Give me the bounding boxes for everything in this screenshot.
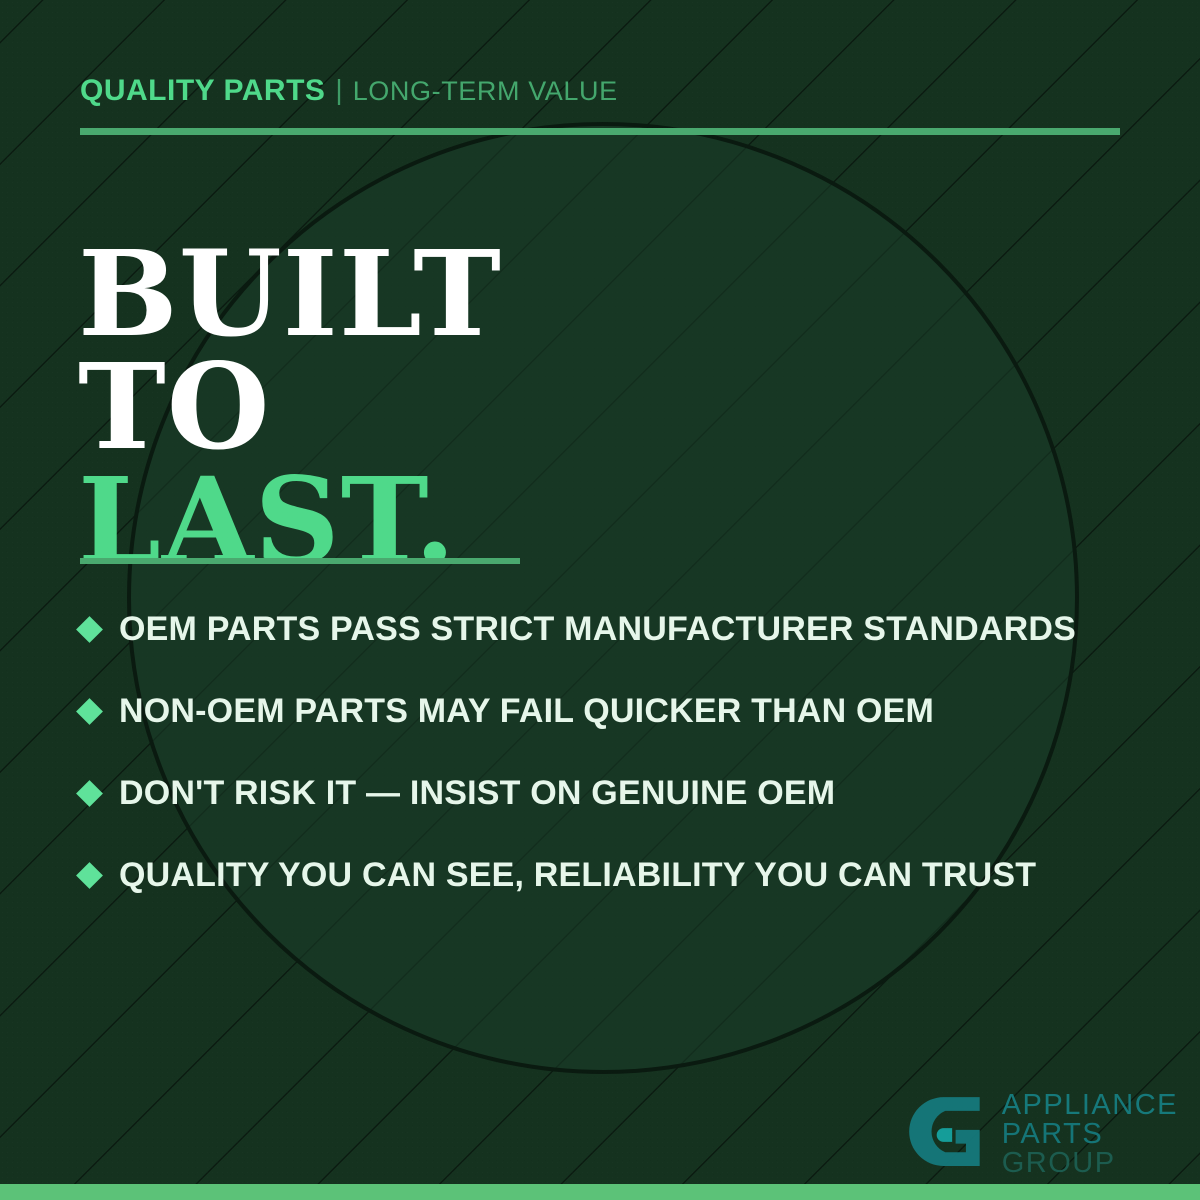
headline-line-2: TO bbox=[78, 350, 502, 463]
brand-logo-line-2: PARTS bbox=[1002, 1120, 1178, 1149]
header-divider-rule bbox=[80, 128, 1120, 135]
bottom-accent-bar bbox=[0, 1184, 1200, 1200]
benefits-list: OEM PARTS PASS STRICT MANUFACTURER STAND… bbox=[80, 588, 1140, 916]
list-item: OEM PARTS PASS STRICT MANUFACTURER STAND… bbox=[80, 588, 1140, 670]
brand-logo-wordmark: APPLIANCE PARTS GROUP bbox=[1002, 1091, 1178, 1178]
kicker-strong-text: QUALITY PARTS bbox=[80, 74, 325, 108]
headline-line-1: BUILT bbox=[78, 237, 502, 350]
brand-logo-line-1: APPLIANCE bbox=[1002, 1091, 1178, 1120]
list-item-label: DON'T RISK IT — INSIST ON GENUINE OEM bbox=[119, 774, 835, 813]
page-title: BUILT TO LAST. bbox=[78, 237, 502, 577]
list-item-label: QUALITY YOU CAN SEE, RELIABILITY YOU CAN… bbox=[119, 856, 1036, 895]
kicker-light-text: LONG-TERM VALUE bbox=[353, 76, 618, 107]
poster-content: QUALITY PARTS | LONG-TERM VALUE BUILT TO… bbox=[0, 0, 1200, 1200]
list-item-label: OEM PARTS PASS STRICT MANUFACTURER STAND… bbox=[119, 610, 1076, 649]
kicker-separator: | bbox=[335, 74, 342, 106]
diamond-bullet-icon bbox=[76, 780, 103, 807]
list-item: NON-OEM PARTS MAY FAIL QUICKER THAN OEM bbox=[80, 670, 1140, 752]
kicker-eyebrow: QUALITY PARTS | LONG-TERM VALUE bbox=[80, 74, 618, 108]
list-item: DON'T RISK IT — INSIST ON GENUINE OEM bbox=[80, 752, 1140, 834]
headline-divider-rule bbox=[80, 558, 520, 564]
poster-canvas: QUALITY PARTS | LONG-TERM VALUE BUILT TO… bbox=[0, 0, 1200, 1200]
diamond-bullet-icon bbox=[76, 698, 103, 725]
list-item-label: NON-OEM PARTS MAY FAIL QUICKER THAN OEM bbox=[119, 692, 934, 731]
diamond-bullet-icon bbox=[76, 616, 103, 643]
brand-logo-line-3: GROUP bbox=[1002, 1149, 1178, 1178]
diamond-bullet-icon bbox=[76, 862, 103, 889]
list-item: QUALITY YOU CAN SEE, RELIABILITY YOU CAN… bbox=[80, 834, 1140, 916]
brand-logo: APPLIANCE PARTS GROUP bbox=[904, 1091, 1178, 1178]
appliance-parts-group-g-mark-icon bbox=[904, 1092, 990, 1178]
